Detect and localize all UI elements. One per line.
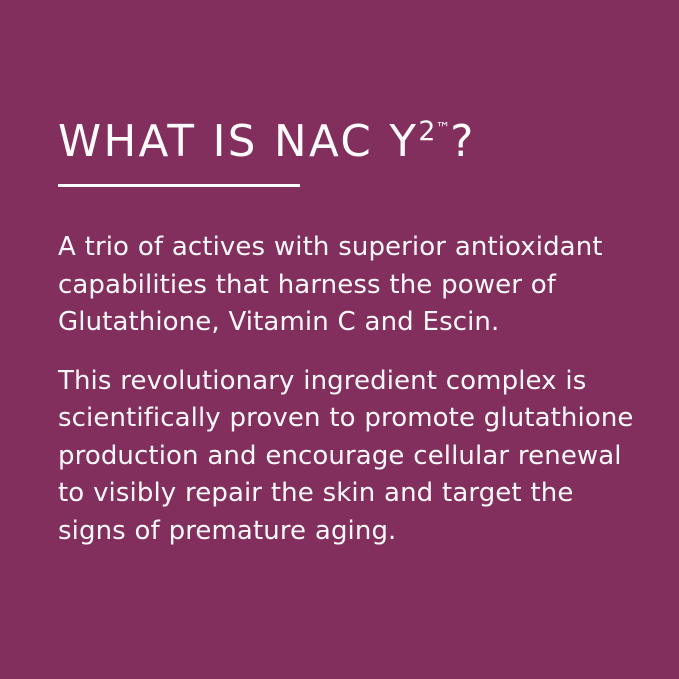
body-copy: A trio of actives with superior antioxid… [58,229,640,550]
superscript-two: 2 [418,116,435,147]
page-title-main: WHAT IS NAC Y [58,116,418,167]
product-info-panel: WHAT IS NAC Y2™? A trio of actives with … [0,0,679,679]
page-title: WHAT IS NAC Y2™? [58,118,632,165]
trademark-icon: ™ [435,119,450,137]
heading-divider [58,184,300,187]
paragraph-detail: This revolutionary ingredient complex is… [58,363,640,551]
page-title-question-mark: ? [450,116,473,167]
content-block: WHAT IS NAC Y2™? A trio of actives with … [58,118,638,165]
paragraph-intro: A trio of actives with superior antioxid… [58,229,640,342]
